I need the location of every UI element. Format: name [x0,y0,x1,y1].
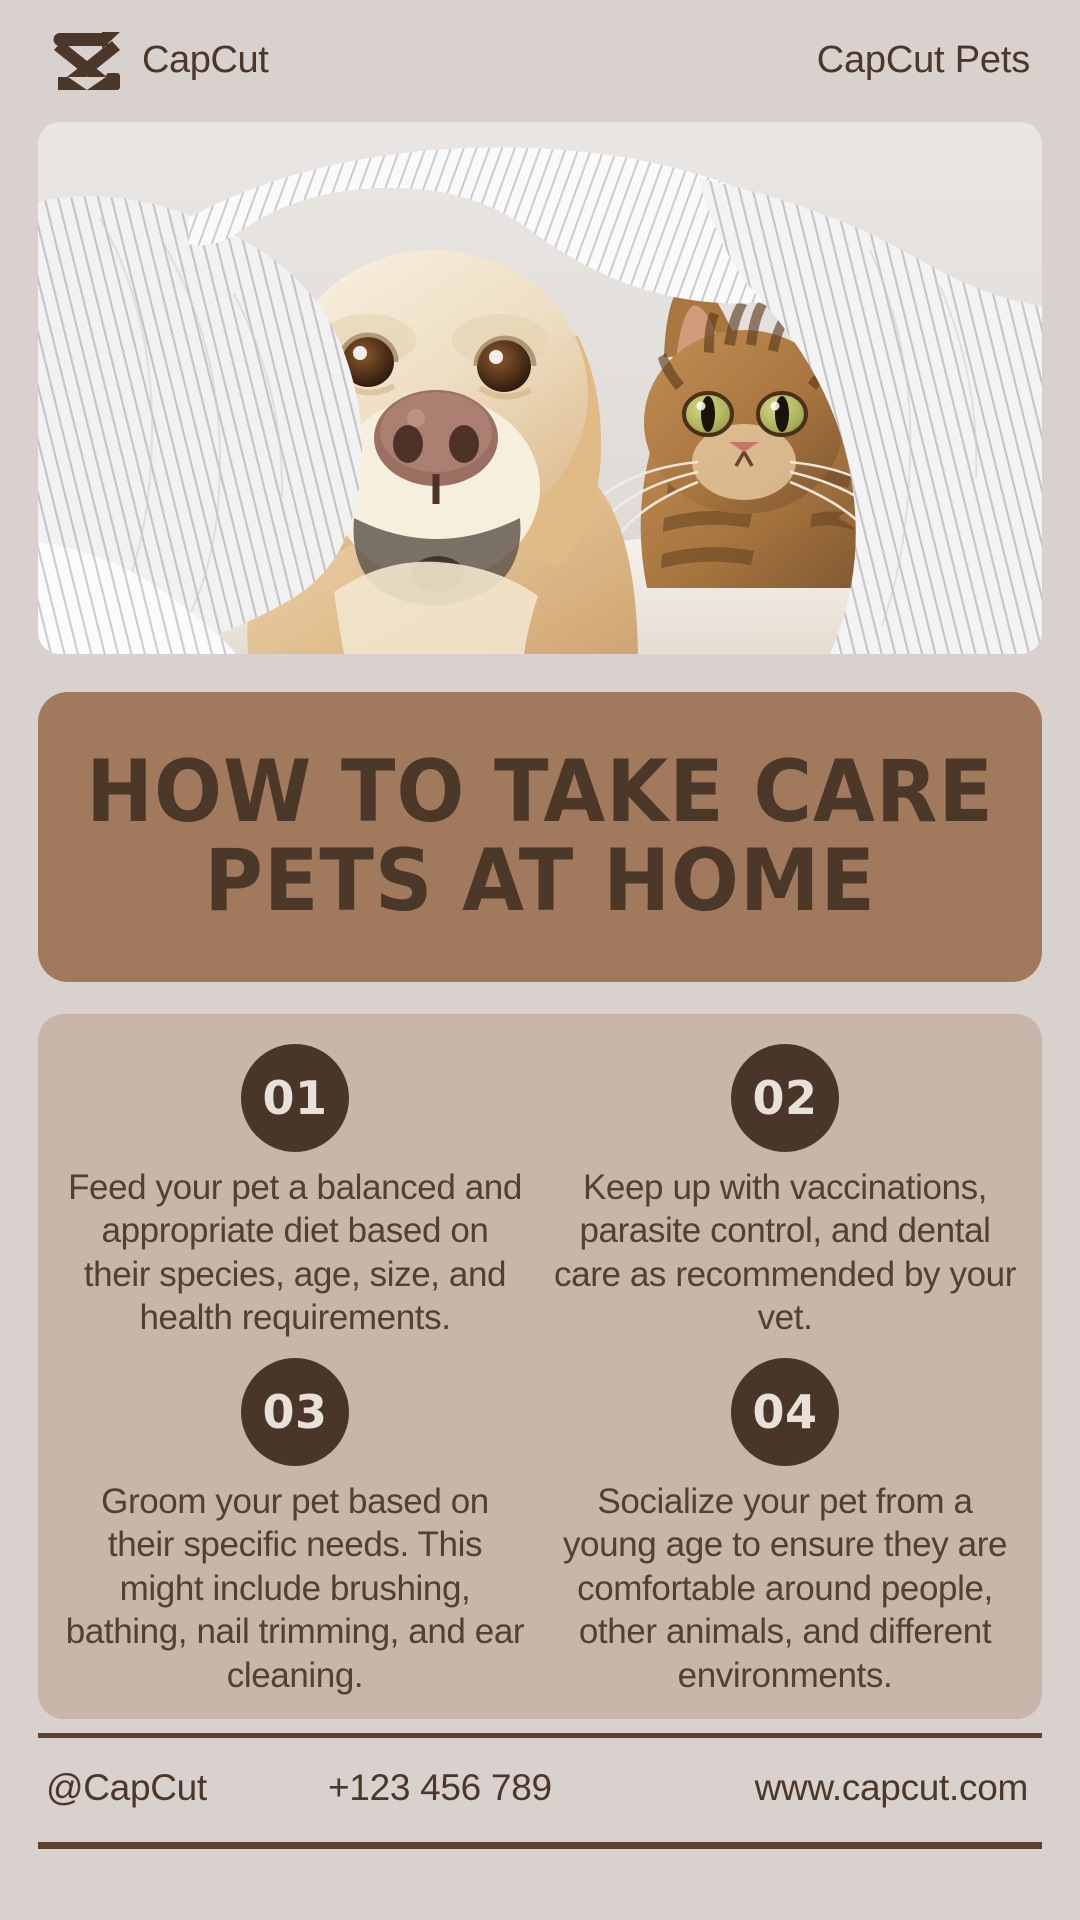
step-item-02: 02 Keep up with vaccinations, parasite c… [554,1044,1016,1348]
step-item-03: 03 Groom your pet based on their specifi… [64,1358,526,1697]
step-number-badge-02: 02 [731,1044,839,1152]
step-text-03: Groom your pet based on their specific n… [64,1480,526,1697]
step-number-badge-03: 03 [241,1358,349,1466]
footer-website-url[interactable]: www.capcut.com [658,1767,1042,1809]
page-title-line-1: HOW TO TAKE CARE [86,748,994,837]
step-number-badge-01: 01 [241,1044,349,1152]
step-item-04: 04 Socialize your pet from a young age t… [554,1358,1016,1697]
capcut-bowtie-logo-icon [50,29,124,91]
step-text-01: Feed your pet a balanced and appropriate… [64,1166,526,1340]
page-header: CapCut CapCut Pets [38,0,1042,120]
steps-card: 01 Feed your pet a balanced and appropri… [38,1014,1042,1719]
header-right-label: CapCut Pets [817,41,1030,79]
step-number-badge-04: 04 [731,1358,839,1466]
page-footer: @CapCut +123 456 789 www.capcut.com [38,1738,1042,1838]
dog-and-cat-photo-illustration [38,122,1042,654]
footer-phone-number[interactable]: +123 456 789 [328,1767,658,1809]
brand-lockup: CapCut [50,29,268,91]
brand-name-label: CapCut [142,41,268,79]
title-banner: HOW TO TAKE CARE PETS AT HOME [38,692,1042,982]
footer-divider-bottom [38,1842,1042,1849]
step-item-01: 01 Feed your pet a balanced and appropri… [64,1044,526,1348]
footer-social-handle[interactable]: @CapCut [38,1767,328,1809]
hero-photo [38,122,1042,654]
page-title-line-2: PETS AT HOME [204,837,876,926]
step-text-02: Keep up with vaccinations, parasite cont… [554,1166,1016,1340]
step-text-04: Socialize your pet from a young age to e… [554,1480,1016,1697]
infographic-page: CapCut CapCut Pets [0,0,1080,1920]
